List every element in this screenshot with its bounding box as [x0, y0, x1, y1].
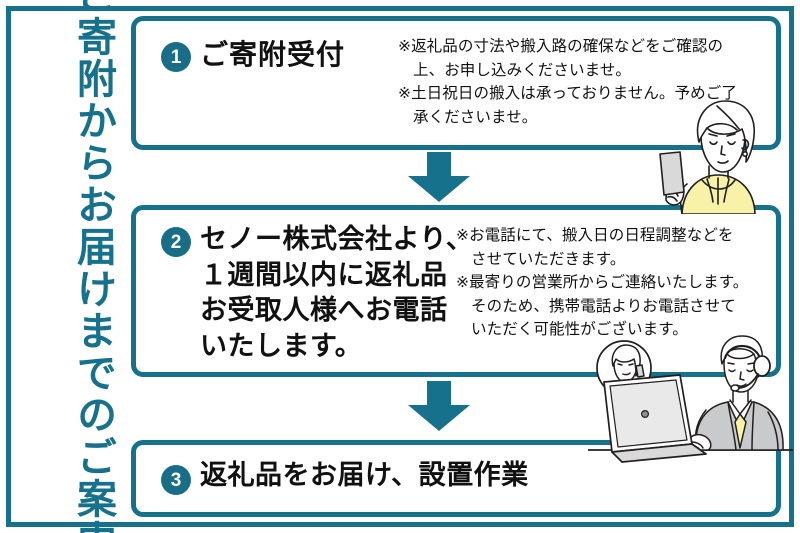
note-line: そのため、携帯電話よりお電話させて [456, 295, 800, 319]
arrow-shaft [427, 152, 451, 178]
arrow-head [408, 176, 470, 202]
step-number-badge-2: 2 [161, 227, 191, 257]
page-title-vertical: ご寄附からお届けまでのご案内 [22, 18, 114, 518]
infographic-page: ご寄附からお届けまでのご案内 1 ご寄附受付 ※返礼品の寸法や搬入路の確保などを… [0, 0, 800, 533]
woman-with-smartphone-illustration [655, 96, 785, 214]
step-number-badge-1: 1 [161, 42, 191, 72]
note-line: ※お電話にて、搬入日の日程調整などを [456, 224, 800, 248]
note-line: させていただきます。 [456, 248, 800, 272]
step-title-3: 返礼品をお届け、設置作業 [200, 459, 529, 492]
arrow-step1-to-step2 [408, 152, 470, 202]
note-line: ※最寄りの営業所からご連絡いたします。 [456, 271, 800, 295]
note-line: ※返礼品の寸法や搬入路の確保などをご確認の [398, 35, 776, 59]
step-number-badge-3: 3 [161, 465, 191, 495]
step-title-2: セノー株式会社より、 １週間以内に返礼品 お受取人様へお電話 いたします。 [200, 222, 473, 365]
arrow-step2-to-step3 [408, 381, 470, 431]
note-line: 上、お申し込みくださいませ。 [398, 59, 776, 83]
step-notes-2: ※お電話にて、搬入日の日程調整などを させていただきます。 ※最寄りの営業所から… [456, 224, 800, 342]
call-center-operator-illustration [588, 334, 793, 464]
arrow-head [408, 405, 470, 431]
step-title-1: ご寄附受付 [200, 38, 345, 72]
arrow-shaft [427, 381, 451, 407]
